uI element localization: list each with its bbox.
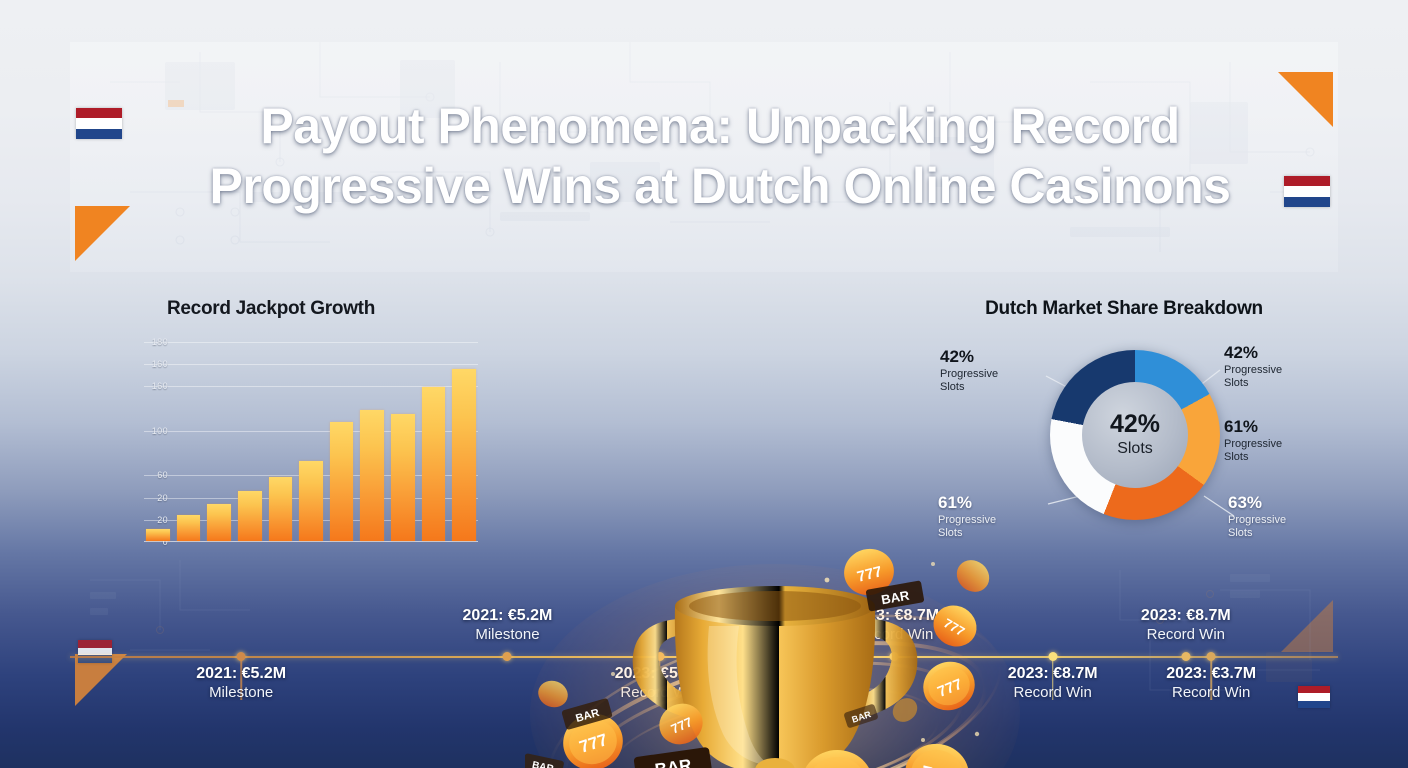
bar-chart-plot: 1801601601006020200 bbox=[130, 342, 470, 542]
timeline-label-value: 2021: €5.2M bbox=[397, 606, 617, 625]
donut-label-segment-2: 63% Progressive Slots bbox=[1228, 494, 1328, 540]
timeline-label: 2023: €8.7MRecord Win bbox=[1076, 606, 1296, 644]
bar bbox=[452, 369, 476, 541]
corner-triangle-top-left bbox=[75, 206, 130, 261]
svg-text:777: 777 bbox=[669, 714, 695, 737]
main-panel: Record Jackpot Growth 180160160100602020… bbox=[70, 272, 1338, 712]
timeline-label-value: 2023: €8.7M bbox=[784, 606, 1004, 625]
page-title: Payout Phenomena: Unpacking Record Progr… bbox=[160, 96, 1280, 216]
segment-percent: 42% bbox=[940, 348, 1040, 366]
svg-text:777: 777 bbox=[918, 762, 954, 768]
timeline-axis bbox=[70, 656, 1338, 658]
timeline-label: 2023: €3.7MRecord Win bbox=[1101, 664, 1321, 702]
bar-series bbox=[146, 342, 476, 541]
donut-center-label: Slots bbox=[1117, 439, 1153, 459]
timeline-label-value: 2023: €8.7M bbox=[664, 664, 884, 683]
timeline-label-caption: Record Win bbox=[784, 625, 1004, 644]
timeline-dot[interactable] bbox=[1181, 652, 1190, 661]
donut-center-value: 42% bbox=[1110, 412, 1160, 437]
segment-percent: 61% bbox=[1224, 418, 1324, 436]
bar bbox=[330, 422, 354, 541]
segment-sublabel: Progressive Slots bbox=[1224, 438, 1324, 464]
timeline-label-caption: Record Win bbox=[1101, 683, 1321, 702]
donut-label-segment-0: 42% Progressive Slots bbox=[1224, 344, 1324, 390]
svg-text:BAR: BAR bbox=[531, 760, 555, 768]
bar bbox=[299, 461, 323, 541]
title-line-2: Progressive Wins at Dutch Online Casinon… bbox=[160, 156, 1280, 216]
bar bbox=[146, 529, 170, 541]
timeline-label: 2023: €8.7MRecord Win bbox=[664, 664, 884, 702]
timeline-label-value: 2023: €8.7M bbox=[1076, 606, 1296, 625]
segment-sublabel: Progressive Slots bbox=[1228, 514, 1328, 540]
dutch-market-share-chart: Dutch Market Share Breakdown 42% Slots 4… bbox=[928, 298, 1328, 598]
donut-label-segment-3: 61% Progressive Slots bbox=[938, 494, 1038, 540]
segment-percent: 42% bbox=[1224, 344, 1324, 362]
timeline-label-caption: Milestone bbox=[397, 625, 617, 644]
bar bbox=[391, 414, 415, 541]
timeline-label: 2023: €8.7MRecord Win bbox=[784, 606, 1004, 644]
jackpot-timeline: 2021: €5.2MMilestone2021: €5.2MMilestone… bbox=[70, 602, 1338, 712]
timeline-label-caption: Milestone bbox=[131, 683, 351, 702]
timeline-label-value: 2023: €3.7M bbox=[1101, 664, 1321, 683]
corner-triangle-top-right bbox=[1278, 72, 1333, 127]
timeline-label-value: 2021: €5.2M bbox=[131, 664, 351, 683]
donut-label-segment-4: 42% Progressive Slots bbox=[940, 348, 1040, 394]
timeline-label: 2021: €5.2MMilestone bbox=[397, 606, 617, 644]
donut-center: 42% Slots bbox=[1082, 382, 1188, 488]
timeline-label-caption: Record Win bbox=[664, 683, 884, 702]
timeline-label-caption: Record Win bbox=[1076, 625, 1296, 644]
donut-chart: 42% Slots bbox=[1050, 350, 1220, 520]
bar bbox=[177, 515, 201, 541]
timeline-dot[interactable] bbox=[503, 652, 512, 661]
svg-text:BAR: BAR bbox=[654, 756, 693, 768]
svg-text:777: 777 bbox=[855, 563, 883, 586]
timeline-label: 2021: €5.2MMilestone bbox=[131, 664, 351, 702]
record-jackpot-growth-chart: Record Jackpot Growth 180160160100602020… bbox=[90, 298, 490, 588]
title-line-1: Payout Phenomena: Unpacking Record bbox=[160, 96, 1280, 156]
segment-sublabel: Progressive Slots bbox=[940, 368, 1040, 394]
infographic-canvas: Payout Phenomena: Unpacking Record Progr… bbox=[0, 0, 1408, 768]
netherlands-flag-icon bbox=[76, 108, 122, 139]
segment-sublabel: Progressive Slots bbox=[938, 514, 1038, 540]
segment-sublabel: Progressive Slots bbox=[1224, 364, 1324, 390]
bar-chart-title: Record Jackpot Growth bbox=[90, 298, 452, 320]
timeline-dot[interactable] bbox=[890, 652, 899, 661]
segment-percent: 63% bbox=[1228, 494, 1328, 512]
bar bbox=[207, 504, 231, 541]
bar bbox=[422, 387, 446, 541]
segment-percent: 61% bbox=[938, 494, 1038, 512]
bar bbox=[238, 491, 262, 541]
donut-label-segment-1: 61% Progressive Slots bbox=[1224, 418, 1324, 464]
bar bbox=[269, 477, 293, 541]
bar bbox=[360, 410, 384, 541]
netherlands-flag-icon bbox=[1284, 176, 1330, 207]
svg-text:777: 777 bbox=[577, 730, 610, 757]
